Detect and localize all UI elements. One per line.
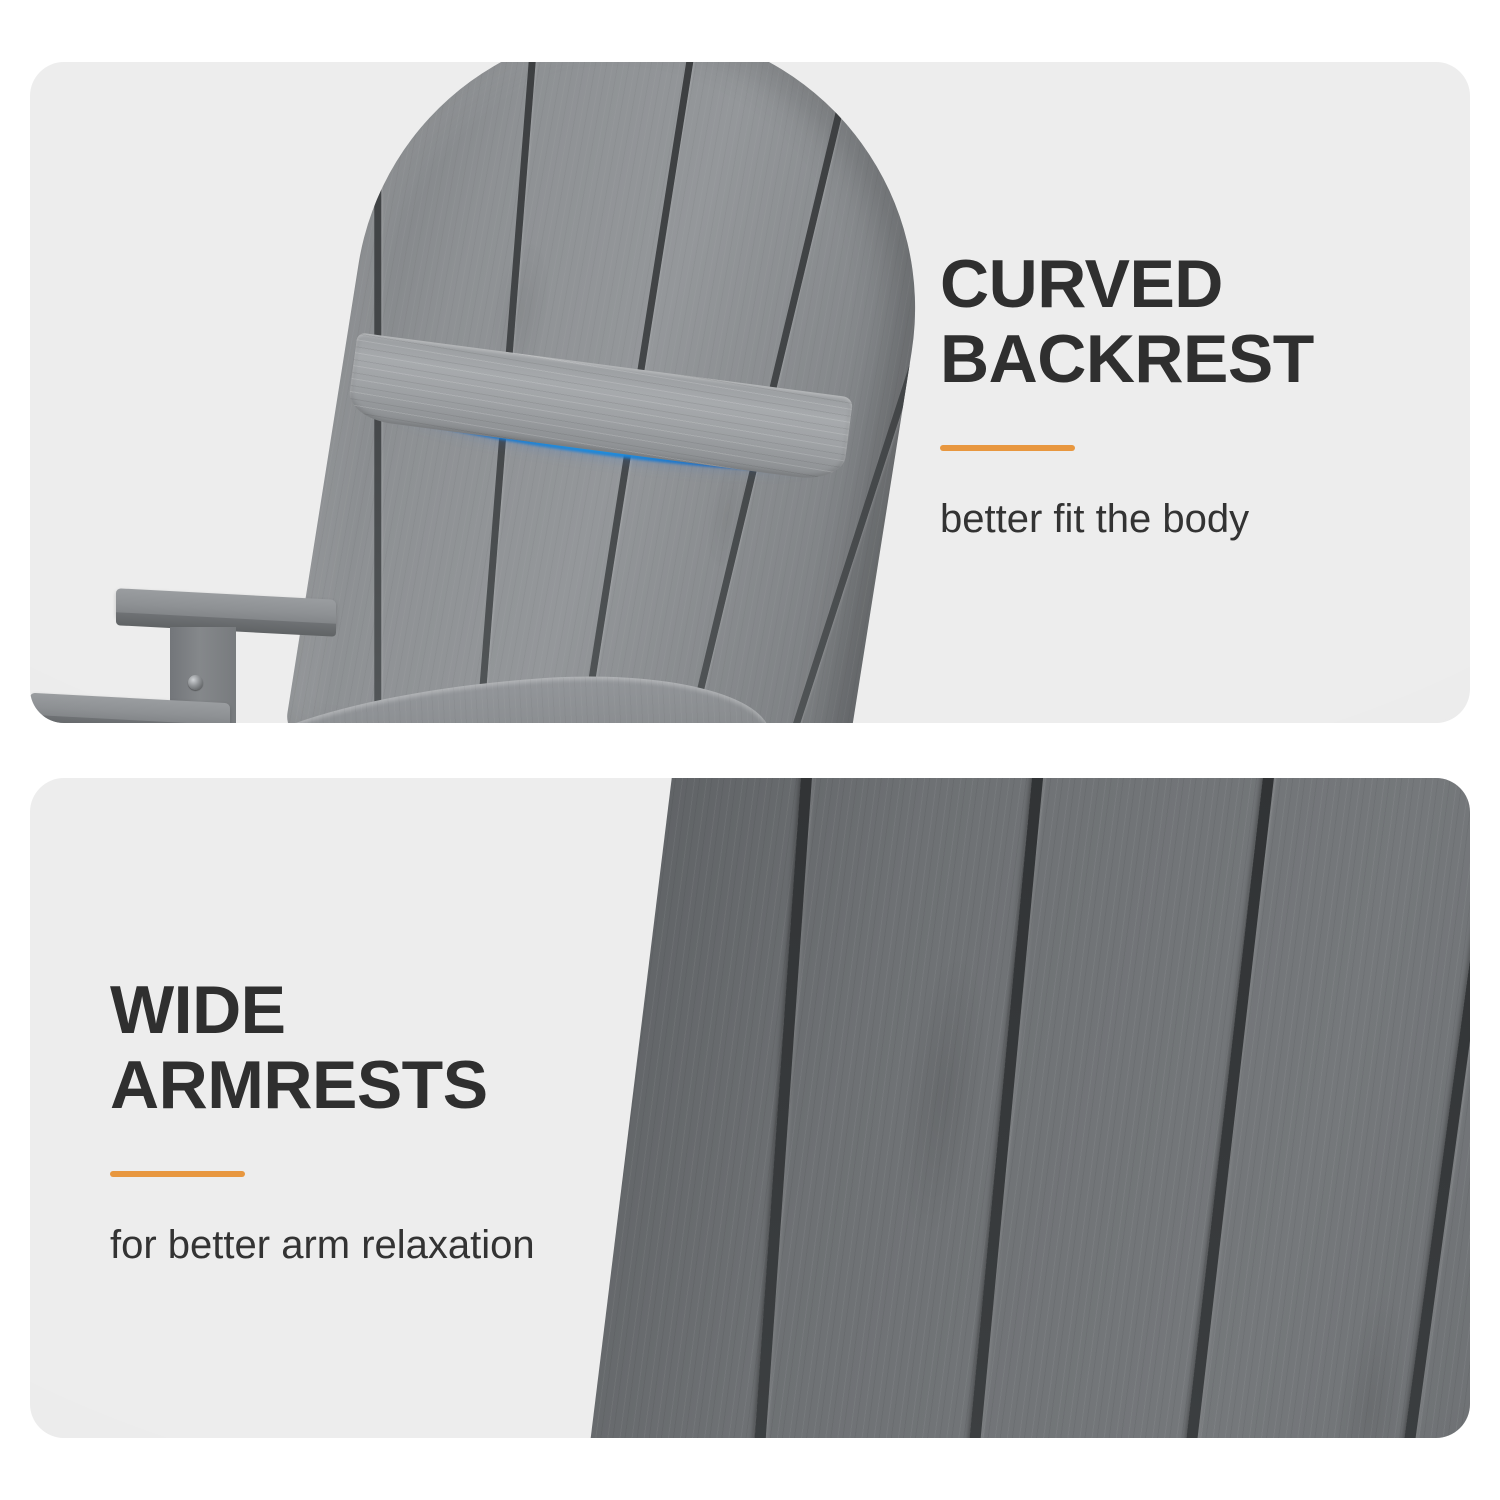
feature-copy-curved-backrest: CURVED BACKREST better fit the body	[940, 247, 1410, 543]
product-feature-page: CURVED BACKREST better fit the body	[0, 0, 1500, 1500]
feature-headline: CURVED BACKREST	[940, 247, 1410, 397]
bolt-icon	[188, 675, 203, 690]
feature-subline: better fit the body	[940, 495, 1410, 543]
feature-headline: WIDE ARMRESTS	[110, 973, 650, 1123]
feature-panel-wide-armrests: WIDE ARMRESTS for better arm relaxation	[30, 778, 1470, 1438]
accent-divider	[940, 445, 1075, 451]
accent-divider	[110, 1171, 245, 1177]
feature-copy-wide-armrests: WIDE ARMRESTS for better arm relaxation	[110, 973, 650, 1269]
feature-panel-curved-backrest: CURVED BACKREST better fit the body	[30, 62, 1470, 723]
feature-subline: for better arm relaxation	[110, 1221, 650, 1269]
backrest-slat-panel	[551, 778, 1470, 1438]
